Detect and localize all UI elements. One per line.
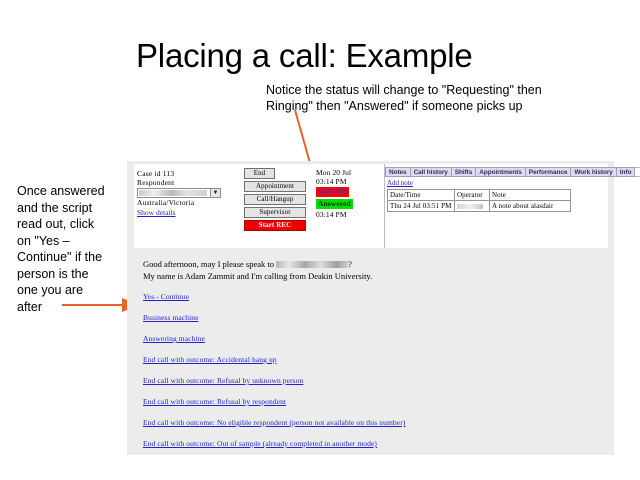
link-answering-machine[interactable]: Answering machine [143, 334, 405, 343]
tab-shifts[interactable]: Shifts [452, 167, 476, 177]
script-line-1-before: Good afternoon, may I please speak to [143, 259, 276, 269]
notes-col-datetime: Date/Time [388, 190, 455, 201]
appointment-button[interactable]: Appointment [244, 181, 306, 192]
table-row[interactable]: Thu 24 Jul 03:51 PM A note about alasdai… [388, 201, 571, 212]
chevron-down-icon[interactable]: ▼ [210, 189, 220, 197]
page-title: Placing a call: Example [136, 36, 473, 76]
link-outcome-out-of-sample[interactable]: End call with outcome: Out of sample (al… [143, 439, 405, 448]
voip-status-badge: VoIP Off [316, 187, 349, 197]
note-text: A note about alasdair [490, 201, 571, 212]
script-line-1-after: ? [348, 259, 352, 269]
note-datetime: Thu 24 Jul 03:51 PM [388, 201, 455, 212]
notes-col-note: Note [490, 190, 571, 201]
tabs-panel: Notes Call history Shifts Appointments P… [384, 164, 608, 248]
call-status-badge: Answered [316, 199, 353, 209]
callout-instruction-line-6: person is the [17, 266, 135, 283]
call-hangup-button[interactable]: Call/Hangup [244, 194, 306, 205]
notes-table: Date/Time Operator Note Thu 24 Jul 03:51… [387, 189, 571, 212]
status-time-top: 03:14 PM [316, 177, 376, 186]
locale-label: Australia/Victoria [137, 198, 233, 207]
respondent-label: Respondent [137, 178, 233, 187]
respondent-value-redacted [139, 190, 207, 196]
call-action-buttons: End Appointment Call/Hangup Supervisor S… [244, 168, 306, 233]
tab-strip-filler [635, 167, 640, 177]
tab-performance[interactable]: Performance [526, 167, 572, 177]
embedded-app-screenshot: Case id 113 Respondent ▼ Australia/Victo… [127, 161, 614, 455]
link-yes-continue[interactable]: Yes - Continue [143, 292, 405, 301]
tab-call-history[interactable]: Call history [411, 167, 452, 177]
link-outcome-refusal-respondent[interactable]: End call with outcome: Refusal by respon… [143, 397, 405, 406]
callout-status-line-1: Notice the status will change to "Reques… [266, 82, 596, 98]
add-note-link[interactable]: Add note [387, 179, 413, 187]
status-date: Mon 20 Jul [316, 168, 376, 177]
link-outcome-refusal-unknown-person[interactable]: End call with outcome: Refusal by unknow… [143, 376, 405, 385]
note-operator [455, 201, 490, 212]
tab-notes[interactable]: Notes [385, 167, 411, 177]
tab-appointments[interactable]: Appointments [476, 167, 526, 177]
app-top-panel: Case id 113 Respondent ▼ Australia/Victo… [134, 164, 607, 248]
link-outcome-accidental-hang-up[interactable]: End call with outcome: Accidental hang u… [143, 355, 405, 364]
link-business-machine[interactable]: Business machine [143, 313, 405, 322]
callout-instruction-line-4: on "Yes – [17, 233, 135, 250]
script-area: Good afternoon, may I please speak to ? … [134, 254, 607, 444]
callout-instruction-line-1: Once answered [17, 183, 135, 200]
script-line-1: Good afternoon, may I please speak to ? [143, 259, 372, 271]
start-rec-button[interactable]: Start REC [244, 220, 306, 231]
call-script-text: Good afternoon, may I please speak to ? … [143, 259, 372, 282]
show-details-link[interactable]: Show details [137, 208, 176, 218]
tab-work-history[interactable]: Work history [571, 167, 616, 177]
respondent-select[interactable]: ▼ [137, 188, 221, 198]
note-operator-redacted [457, 204, 483, 209]
link-outcome-no-eligible-respondent[interactable]: End call with outcome: No eligible respo… [143, 418, 405, 427]
case-id-label: Case id 113 [137, 169, 233, 178]
notes-table-header-row: Date/Time Operator Note [388, 190, 571, 201]
notes-col-operator: Operator [455, 190, 490, 201]
callout-instruction-line-3: read out, click [17, 216, 135, 233]
call-info-panel: Case id 113 Respondent ▼ Australia/Victo… [137, 169, 233, 218]
supervisor-button[interactable]: Supervisor [244, 207, 306, 218]
script-line-2: My name is Adam Zammit and I'm calling f… [143, 271, 372, 283]
status-time-bottom: 03:14 PM [316, 210, 376, 219]
tab-info[interactable]: Info [617, 167, 636, 177]
tab-strip: Notes Call history Shifts Appointments P… [385, 167, 640, 177]
call-status-panel: Mon 20 Jul 03:14 PM VoIP Off Answered 03… [316, 168, 376, 219]
callout-instruction-line-5: Continue" if the [17, 249, 135, 266]
respondent-name-redacted [276, 261, 348, 268]
callout-instruction-line-2: and the script [17, 200, 135, 217]
call-outcome-links: Yes - Continue Business machine Answerin… [143, 292, 405, 460]
end-button[interactable]: End [244, 168, 275, 179]
